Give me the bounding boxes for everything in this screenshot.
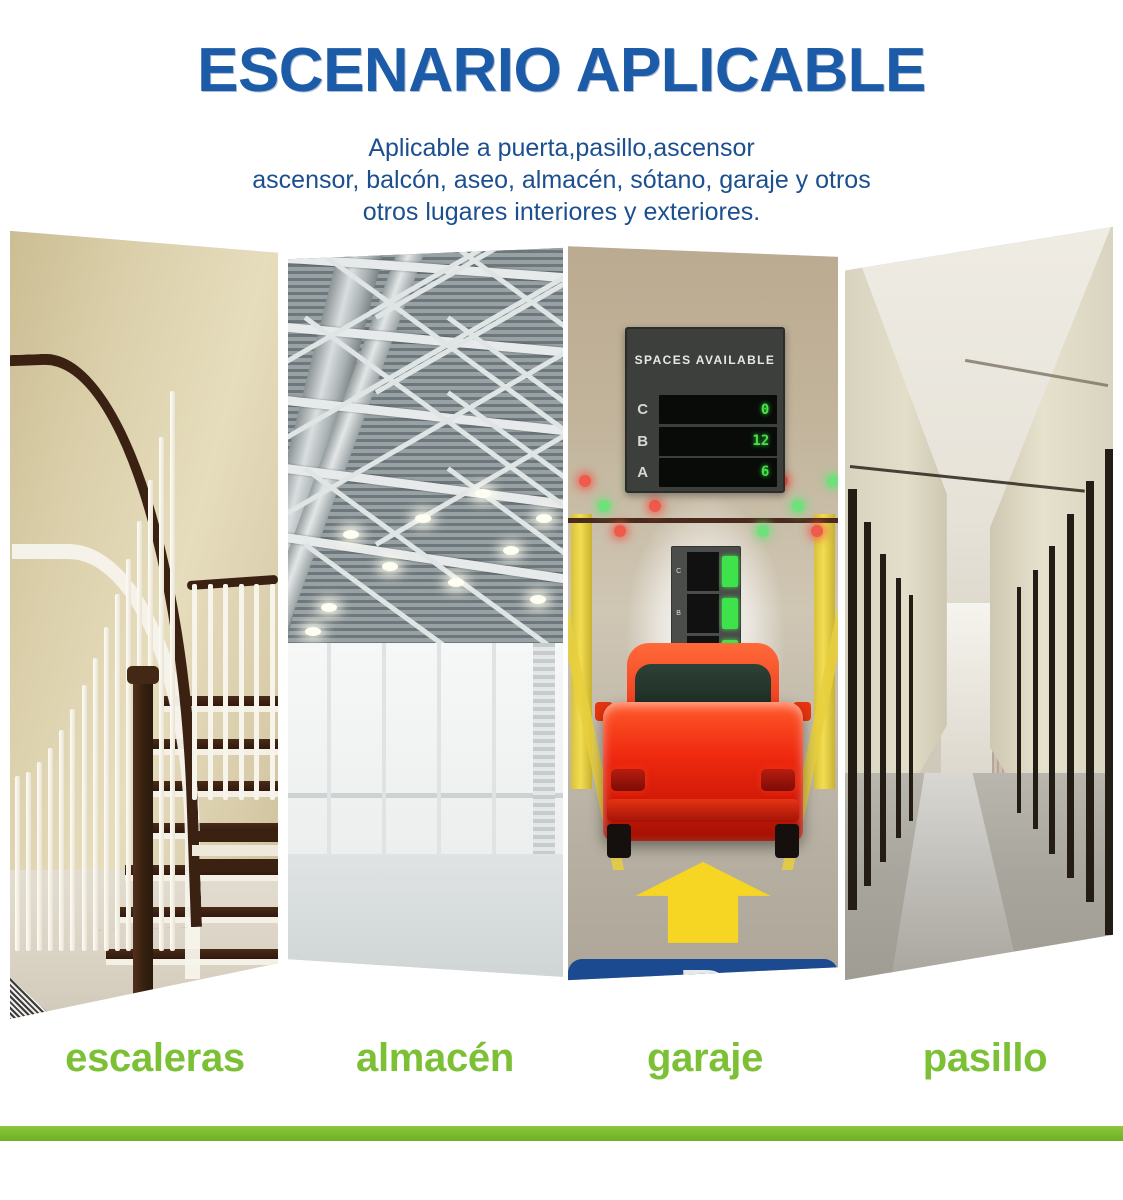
- promo-banner: ESCENARIO APLICABLE Aplicable a puerta,p…: [0, 0, 1123, 1200]
- scene-panel-escaleras: [10, 222, 278, 1032]
- warehouse-truss-ceiling: [288, 222, 563, 643]
- secondary-row: B: [674, 594, 739, 633]
- car-wheel-left: [607, 824, 631, 858]
- door-jamb: [1105, 449, 1113, 935]
- upper-landing-rail: [187, 578, 278, 870]
- spaces-available-sign: SPACES AVAILABLE C 0 B 12 A 6: [625, 327, 786, 493]
- caption-almacen: almacén: [300, 1036, 570, 1081]
- corridor-photo: [845, 222, 1113, 1032]
- level-count: 0: [659, 395, 778, 424]
- tail-light-left: [611, 769, 645, 791]
- corridor-end-wall: [941, 603, 995, 781]
- door-jamb: [848, 489, 857, 910]
- floor-light-sheen: [883, 773, 1033, 1032]
- staircase-photo: [10, 222, 278, 1032]
- warehouse-roller-door: [533, 643, 555, 886]
- secondary-led-green: [722, 598, 739, 629]
- subtitle-line-2: ascensor, balcón, aseo, almacén, sótano,…: [0, 164, 1123, 196]
- scene-panel-group: SPACES AVAILABLE C 0 B 12 A 6: [0, 222, 1123, 1032]
- secondary-led-strip: [687, 552, 719, 591]
- door-jamb: [1049, 546, 1055, 854]
- spaces-available-rows: C 0 B 12 A 6: [627, 391, 784, 491]
- door-jamb: [896, 578, 901, 837]
- door-jamb: [909, 595, 913, 822]
- spaces-row: B 12: [633, 427, 778, 456]
- spaces-row: C 0: [633, 395, 778, 424]
- caption-row: escaleras almacén garaje pasillo: [0, 1036, 1123, 1092]
- door-jamb: [1017, 587, 1021, 814]
- secondary-level-label: C: [674, 568, 684, 575]
- warehouse-photo: [288, 222, 563, 1032]
- level-count: 6: [659, 458, 778, 487]
- page-title: ESCENARIO APLICABLE: [0, 38, 1123, 103]
- car-wheel-right: [775, 824, 799, 858]
- car-bumper: [607, 799, 799, 821]
- red-car: [603, 643, 803, 854]
- car-body: [603, 702, 803, 841]
- caption-escaleras: escaleras: [10, 1036, 300, 1081]
- door-jamb: [1067, 514, 1074, 879]
- garage-photo: SPACES AVAILABLE C 0 B 12 A 6: [568, 222, 838, 1032]
- spaces-row: A 6: [633, 458, 778, 487]
- upper-handrail: [187, 575, 278, 590]
- caption-pasillo: pasillo: [845, 1036, 1123, 1081]
- door-jamb: [1033, 570, 1038, 829]
- green-divider-bar: [0, 1126, 1123, 1141]
- secondary-led-green: [722, 556, 739, 587]
- level-label: B: [633, 433, 653, 450]
- door-jamb: [880, 554, 886, 862]
- caption-garaje: garaje: [575, 1036, 835, 1081]
- scene-panel-pasillo: [845, 222, 1113, 1032]
- spaces-available-header: SPACES AVAILABLE: [627, 329, 784, 391]
- warehouse-wall: [288, 643, 563, 870]
- secondary-led-strip: [687, 594, 719, 633]
- warehouse-floor: [288, 854, 563, 1032]
- parking-p-letter: P: [678, 967, 727, 1025]
- scene-panel-garaje: SPACES AVAILABLE C 0 B 12 A 6: [568, 222, 838, 1032]
- subtitle-line-1: Aplicable a puerta,pasillo,ascensor: [0, 132, 1123, 164]
- door-jamb: [1086, 481, 1094, 902]
- subtitle-block: Aplicable a puerta,pasillo,ascensor asce…: [0, 132, 1123, 228]
- stair-newel-post: [133, 676, 153, 1032]
- door-jamb: [864, 522, 871, 887]
- floor-direction-arrow: [636, 862, 771, 943]
- level-count: 12: [659, 427, 778, 456]
- secondary-row: C: [674, 552, 739, 591]
- parking-p-sign: P: [568, 959, 838, 1032]
- secondary-level-label: B: [674, 610, 684, 617]
- tail-light-right: [761, 769, 795, 791]
- level-label: C: [633, 401, 653, 418]
- floor-seam: [288, 975, 563, 1022]
- scene-panel-almacen: [288, 222, 563, 1032]
- level-label: A: [633, 464, 653, 481]
- upper-treads: [192, 859, 278, 870]
